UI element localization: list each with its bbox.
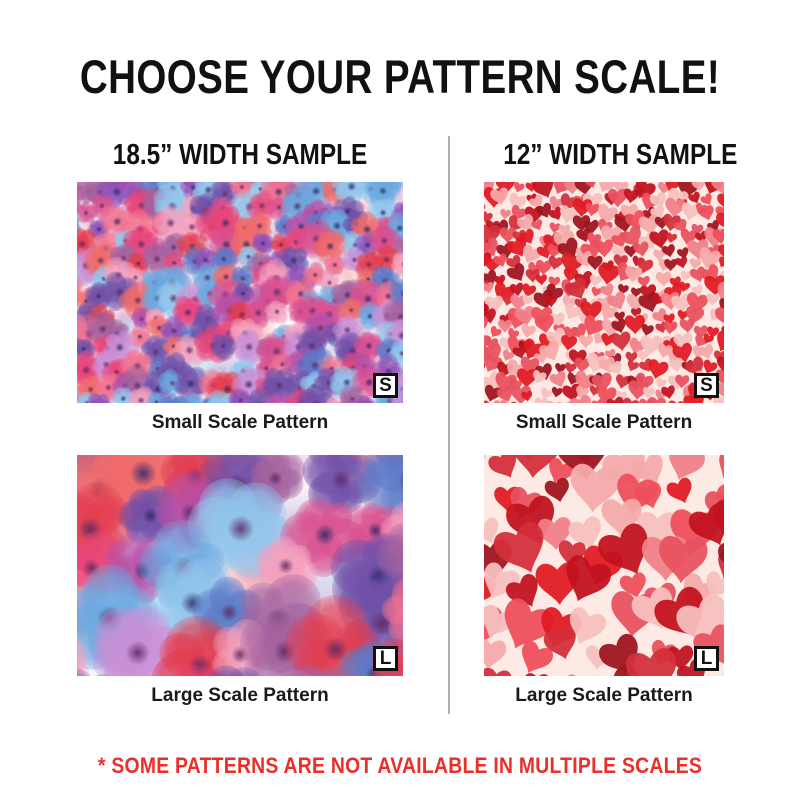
pattern-swatch-left-large[interactable]: L xyxy=(77,455,403,676)
column-header-left: 18.5” WIDTH SAMPLE xyxy=(103,139,377,171)
swatch-block-right-small: S Small Scale Pattern xyxy=(484,182,724,435)
swatch-caption: Large Scale Pattern xyxy=(77,684,403,708)
pattern-canvas-floral-large xyxy=(77,455,403,676)
size-badge-large: L xyxy=(694,646,719,671)
swatch-block-left-large: L Large Scale Pattern xyxy=(77,455,403,708)
page-title: CHOOSE YOUR PATTERN SCALE! xyxy=(72,52,728,102)
pattern-swatch-right-large[interactable]: L xyxy=(484,455,724,676)
pattern-swatch-left-small[interactable]: S xyxy=(77,182,403,403)
swatch-caption: Small Scale Pattern xyxy=(77,411,403,435)
footnote-text: * SOME PATTERNS ARE NOT AVAILABLE IN MUL… xyxy=(48,753,752,779)
pattern-swatch-right-small[interactable]: S xyxy=(484,182,724,403)
swatch-block-right-large: L Large Scale Pattern xyxy=(484,455,724,708)
size-badge-small: S xyxy=(373,373,398,398)
size-badge-small: S xyxy=(694,373,719,398)
pattern-canvas-hearts-small xyxy=(484,182,724,403)
pattern-canvas-hearts-large xyxy=(484,455,724,676)
pattern-canvas-floral-small xyxy=(77,182,403,403)
swatch-caption: Small Scale Pattern xyxy=(484,411,724,435)
column-header-right: 12” WIDTH SAMPLE xyxy=(503,139,705,171)
swatch-caption: Large Scale Pattern xyxy=(484,684,724,708)
column-divider xyxy=(448,136,450,714)
size-badge-large: L xyxy=(373,646,398,671)
swatch-block-left-small: S Small Scale Pattern xyxy=(77,182,403,435)
